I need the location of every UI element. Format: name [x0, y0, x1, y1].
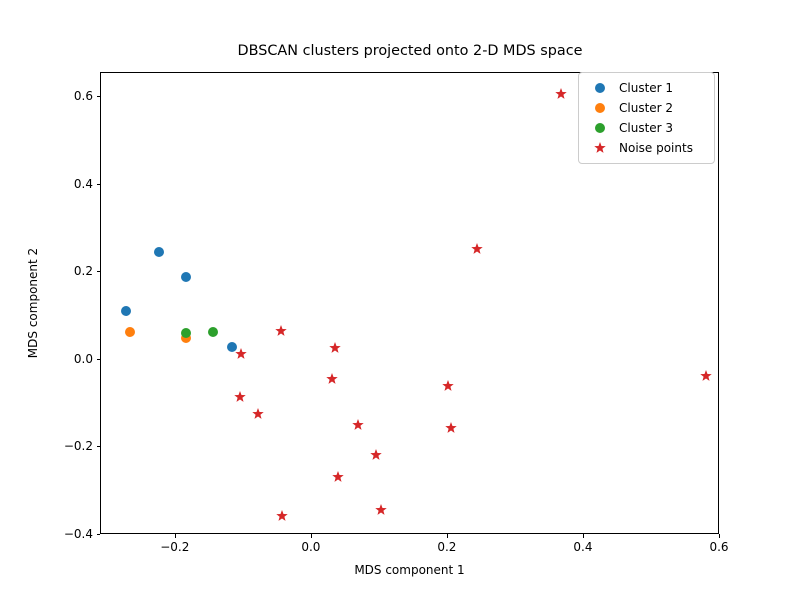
y-axis-tick-label: 0.6 [10, 89, 93, 103]
x-axis-tick [175, 534, 176, 538]
circle-marker-icon [585, 102, 615, 114]
data-point [233, 390, 247, 404]
x-axis-tick-label: 0.2 [437, 540, 456, 554]
x-axis-tick [447, 534, 448, 538]
data-point [207, 326, 219, 338]
legend-item-label: Noise points [615, 141, 693, 155]
data-point [328, 341, 342, 355]
y-axis-tick [97, 271, 101, 272]
circle-marker-icon [585, 82, 615, 94]
circle-marker-icon [585, 122, 615, 134]
y-axis-tick [97, 96, 101, 97]
data-point [275, 509, 289, 523]
x-axis-label: MDS component 1 [100, 563, 719, 577]
data-point [180, 271, 192, 283]
y-axis-tick [97, 184, 101, 185]
x-axis-tick [311, 534, 312, 538]
y-axis-tick-label: −0.4 [10, 527, 93, 541]
x-axis-tick-label: −0.2 [160, 540, 189, 554]
legend-item-noise-points[interactable]: Noise points [585, 138, 708, 158]
y-axis-tick-label: 0.0 [10, 352, 93, 366]
x-axis-tick [583, 534, 584, 538]
data-point [180, 327, 192, 339]
data-point [699, 369, 713, 383]
chart-legend: Cluster 1Cluster 2Cluster 3Noise points [578, 72, 715, 164]
data-point [325, 372, 339, 386]
matplotlib-figure: DBSCAN clusters projected onto 2-D MDS s… [0, 0, 800, 600]
y-axis-tick-label: −0.2 [10, 439, 93, 453]
legend-item-cluster-1[interactable]: Cluster 1 [585, 78, 708, 98]
data-point [251, 407, 265, 421]
data-point [470, 242, 484, 256]
legend-item-label: Cluster 3 [615, 121, 673, 135]
data-point [444, 421, 458, 435]
data-point [441, 379, 455, 393]
legend-item-label: Cluster 1 [615, 81, 673, 95]
data-point [331, 470, 345, 484]
y-axis-tick [97, 359, 101, 360]
legend-item-label: Cluster 2 [615, 101, 673, 115]
legend-item-cluster-2[interactable]: Cluster 2 [585, 98, 708, 118]
data-point [153, 246, 165, 258]
data-point [124, 326, 136, 338]
data-point [120, 305, 132, 317]
legend-item-cluster-3[interactable]: Cluster 3 [585, 118, 708, 138]
x-axis-tick-label: 0.4 [573, 540, 592, 554]
x-axis-tick [719, 534, 720, 538]
page-title: DBSCAN clusters projected onto 2-D MDS s… [100, 43, 720, 60]
y-axis-tick-label: 0.4 [10, 177, 93, 191]
x-axis-tick-label: 0.0 [301, 540, 320, 554]
y-axis-label: MDS component 2 [26, 72, 40, 534]
data-point [234, 347, 248, 361]
y-axis-tick-label: 0.2 [10, 264, 93, 278]
data-point [351, 418, 365, 432]
star-marker-icon [585, 141, 615, 155]
x-axis-tick-label: 0.6 [709, 540, 728, 554]
y-axis-tick [97, 534, 101, 535]
data-point [554, 87, 568, 101]
data-point [374, 503, 388, 517]
data-point [274, 324, 288, 338]
y-axis-tick [97, 446, 101, 447]
data-point [369, 448, 383, 462]
